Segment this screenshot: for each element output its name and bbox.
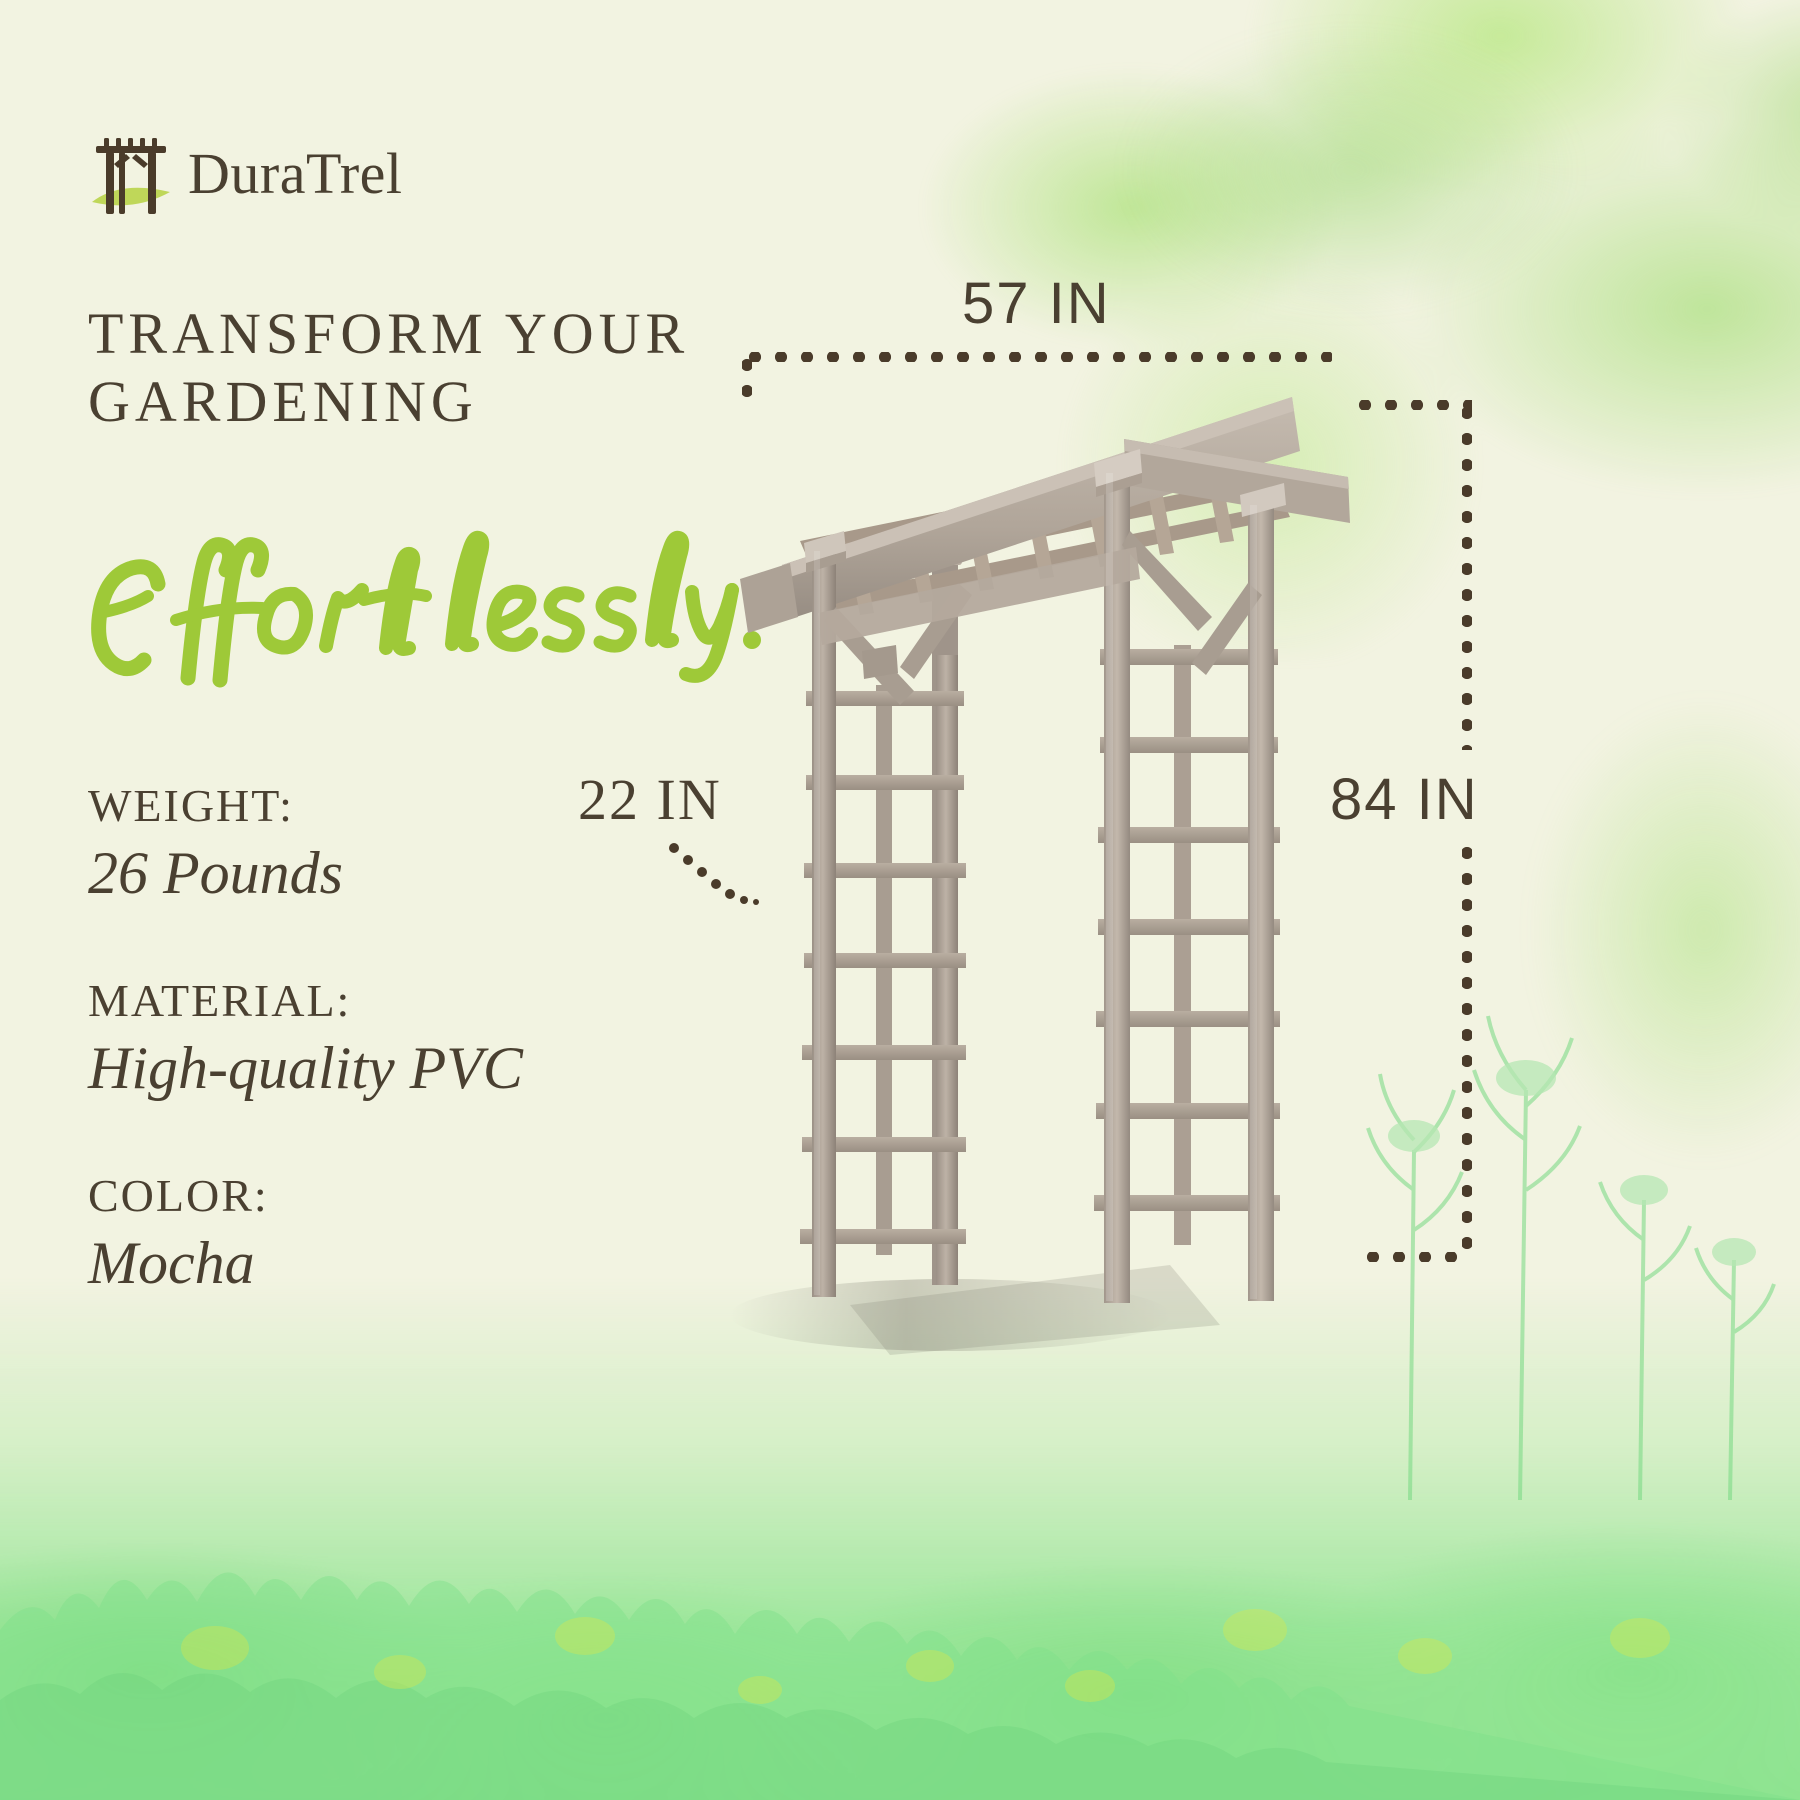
spec-list: WEIGHT: 26 Pounds MATERIAL: High-quality… bbox=[88, 780, 728, 1365]
headline-line-2: GARDENING bbox=[88, 368, 768, 436]
spec-value-color: Mocha bbox=[88, 1227, 728, 1299]
spec-value-material: High-quality PVC bbox=[88, 1032, 728, 1104]
headline-line-1: TRANSFORM YOUR bbox=[88, 300, 768, 368]
spec-item-color: COLOR: Mocha bbox=[88, 1170, 728, 1299]
spec-label-color: COLOR: bbox=[88, 1170, 728, 1223]
headline: TRANSFORM YOUR GARDENING bbox=[88, 300, 768, 436]
spec-value-weight: 26 Pounds bbox=[88, 837, 728, 909]
poster-canvas: DuraTrel TRANSFORM YOUR GARDENING bbox=[0, 0, 1800, 1800]
watercolor-wash-right bbox=[1340, 620, 1800, 1240]
product-image-garden-arbor bbox=[700, 355, 1360, 1375]
foliage-sprigs-right bbox=[1350, 940, 1780, 1500]
dimension-line-height-top bbox=[1352, 400, 1472, 410]
dimension-label-width: 57 IN bbox=[962, 270, 1111, 337]
spec-item-material: MATERIAL: High-quality PVC bbox=[88, 975, 728, 1104]
dimension-line-height bbox=[1462, 400, 1472, 750]
dimension-line-height-bottom bbox=[1360, 1252, 1470, 1262]
brand-logo[interactable]: DuraTrel bbox=[88, 132, 403, 216]
script-headline bbox=[70, 508, 770, 708]
watercolor-wash-top bbox=[1040, 0, 1660, 380]
spec-label-material: MATERIAL: bbox=[88, 975, 728, 1028]
foliage-silhouette bbox=[0, 1380, 1800, 1800]
arbor-pergola-icon bbox=[88, 132, 174, 216]
dimension-line-height-lower bbox=[1462, 840, 1472, 1260]
brand-name: DuraTrel bbox=[188, 145, 403, 203]
